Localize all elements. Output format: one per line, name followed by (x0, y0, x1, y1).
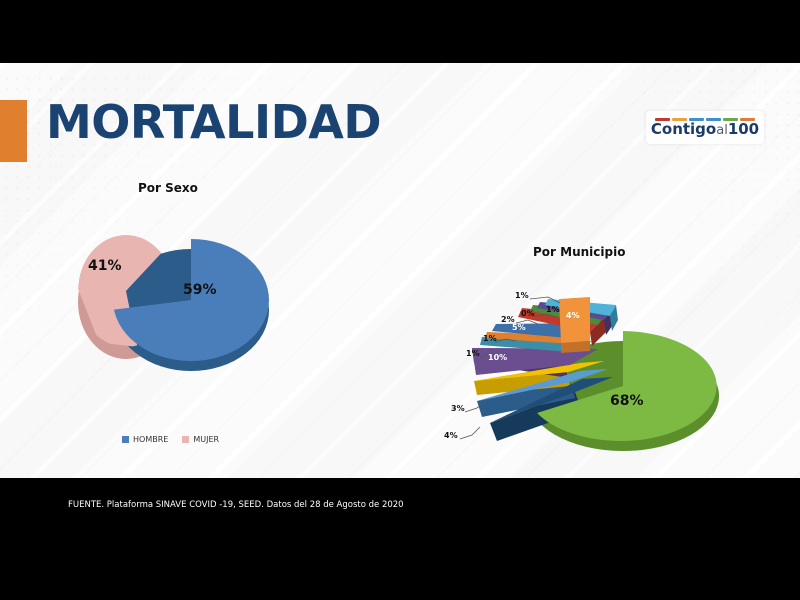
pie-slice-rr[interactable] (559, 297, 590, 343)
pie-label-el-llano: 1% (483, 334, 497, 343)
slide-root: MORTALIDAD Contigoal100 Por Sexo 41% 59%… (0, 0, 800, 600)
logo-text: Contigoal100 (651, 122, 759, 137)
pie-label-jm: 5% (512, 323, 526, 332)
legend-item-hombre[interactable]: HOMBRE (122, 435, 168, 444)
title-accent-bar (0, 100, 27, 162)
pie-label-tepezala: 1% (466, 349, 480, 358)
pie-label-foraneos: 10% (488, 353, 507, 362)
pie-municipio-svg (430, 253, 730, 463)
legend-label-hombre: HOMBRE (133, 435, 168, 444)
pie-label-ags: 68% (610, 393, 644, 409)
pie-chart-por-municipio: 4% 3% 10% 1% 1% 5% 2% 0% 1% 1% 4% 68% (430, 253, 730, 463)
chart-title-por-sexo: Por Sexo (138, 181, 198, 195)
brand-logo: Contigoal100 (646, 111, 764, 144)
legend-label-mujer: MUJER (193, 435, 219, 444)
pie-label-hombre: 59% (183, 282, 217, 298)
pie-label-rr: 4% (566, 311, 580, 320)
footer-source-text: FUENTE. Plataforma SINAVE COVID -19, SEE… (68, 500, 404, 510)
legend-item-mujer[interactable]: MUJER (182, 435, 219, 444)
page-title: MORTALIDAD (46, 99, 381, 145)
pie-label-calvillo: 1% (546, 305, 560, 314)
pie-chart-por-sexo: 41% 59% (60, 213, 275, 388)
pie-label-cosio: 0% (521, 309, 535, 318)
pie-label-sfr: 3% (451, 404, 465, 413)
pie-slice-rr-depth[interactable] (561, 341, 590, 353)
letterbox-bottom (0, 533, 800, 600)
pie-label-pa: 4% (444, 431, 458, 440)
pie-label-sjg: 1% (515, 291, 529, 300)
logo-text-thin: al (716, 123, 728, 138)
slide-stage: MORTALIDAD Contigoal100 Por Sexo 41% 59%… (0, 63, 800, 478)
legend-por-sexo: HOMBRE MUJER (122, 435, 219, 444)
logo-text-number: 100 (728, 120, 759, 138)
legend-swatch-hombre (122, 436, 129, 443)
pie-label-asientos: 2% (501, 315, 515, 324)
logo-text-main: Contigo (651, 120, 716, 138)
pie-label-mujer: 41% (88, 258, 122, 274)
legend-swatch-mujer (182, 436, 189, 443)
letterbox-top (0, 0, 800, 63)
